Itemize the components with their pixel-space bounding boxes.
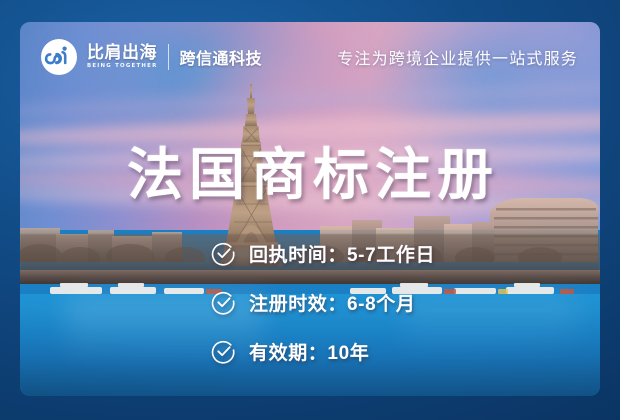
page-title: 法国商标注册 bbox=[20, 130, 600, 211]
list-item: 回执时间：5-7工作日 bbox=[211, 240, 435, 267]
brand-text-block: 比肩出海 BEING TOGETHER bbox=[87, 44, 158, 69]
marketing-banner: 比肩出海 BEING TOGETHER 跨信通科技 专注为跨境企业提供一站式服务… bbox=[0, 0, 620, 420]
list-item-label: 有效期：10年 bbox=[249, 338, 369, 365]
brand-name-cn: 比肩出海 bbox=[87, 44, 158, 61]
brand-lockup[interactable]: 比肩出海 BEING TOGETHER bbox=[40, 38, 158, 76]
check-circle-icon bbox=[211, 339, 236, 364]
brand-name-en: BEING TOGETHER bbox=[87, 64, 158, 69]
list-item-label: 回执时间：5-7工作日 bbox=[249, 240, 435, 267]
list-item: 注册时效：6-8个月 bbox=[211, 289, 435, 316]
company-name: 跨信通科技 bbox=[180, 45, 263, 69]
brand-divider bbox=[168, 44, 169, 70]
banner-header: 比肩出海 BEING TOGETHER 跨信通科技 专注为跨境企业提供一站式服务 bbox=[20, 22, 600, 92]
list-item-label: 注册时效：6-8个月 bbox=[249, 289, 415, 316]
photo-card: 比肩出海 BEING TOGETHER 跨信通科技 专注为跨境企业提供一站式服务… bbox=[20, 22, 600, 396]
check-circle-icon bbox=[211, 241, 236, 266]
feature-list: 回执时间：5-7工作日 注册时效：6-8个月 有效期：10年 bbox=[211, 240, 435, 365]
list-item: 有效期：10年 bbox=[211, 338, 435, 365]
check-circle-icon bbox=[211, 290, 236, 315]
bijian-circular-logo-icon bbox=[40, 38, 78, 76]
header-tagline: 专注为跨境企业提供一站式服务 bbox=[337, 45, 578, 69]
